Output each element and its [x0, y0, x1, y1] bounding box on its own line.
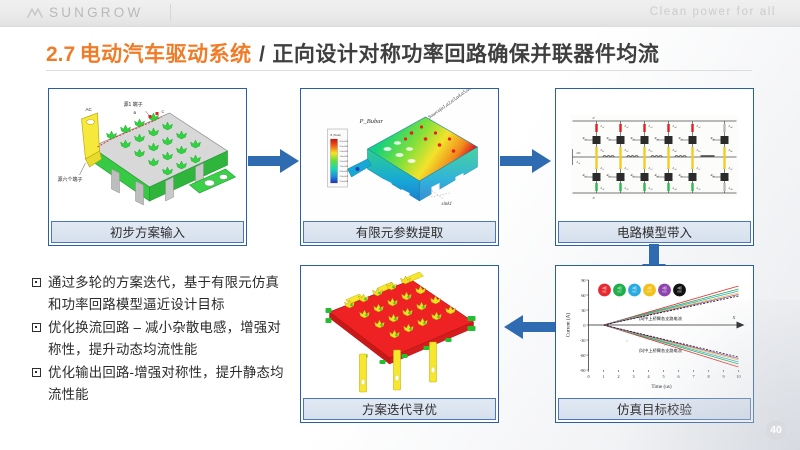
sungrow-logo-icon	[27, 6, 43, 21]
svg-text:1.2e-002: 1.2e-002	[340, 161, 349, 163]
svg-text:A相: A相	[617, 286, 622, 290]
svg-text:源六个端子: 源六个端子	[58, 176, 83, 183]
svg-text:i: i	[695, 301, 696, 305]
svg-text:sink1: sink1	[442, 202, 453, 207]
svg-text:IG3: IG3	[632, 289, 637, 293]
svg-text:X: X	[732, 315, 736, 320]
title-number: 2.7	[46, 43, 75, 66]
svg-text:-60: -60	[580, 353, 586, 358]
svg-text:3.9e-003: 3.9e-003	[340, 171, 349, 173]
list-item: 优化换流回路 – 减小杂散电感，增强对称性，提升动态均流性能	[32, 317, 290, 360]
svg-text:5: 5	[662, 374, 664, 379]
svg-text:1.8e-002: 1.8e-002	[340, 156, 349, 158]
svg-text:(b)中上桥臂各支路电流: (b)中上桥臂各支路电流	[639, 347, 683, 354]
flow-panel-fem-extraction[interactable]: P_Bubar B (Tesla) 4.2e-0023.1e-002 2.4e-…	[300, 88, 499, 246]
svg-text:2.0e-004: 2.0e-004	[340, 181, 349, 183]
list-item: 通过多轮的方案迭代，基于有限元仿真和功率回路模型逼近设计目标	[32, 272, 290, 315]
panel-caption-circuit-model: 电路模型带入	[558, 221, 751, 243]
svg-text:2.4e-002: 2.4e-002	[340, 151, 349, 153]
header-divider	[170, 4, 171, 21]
bullet-square-icon	[32, 368, 41, 377]
flow-panel-iterative-optimization[interactable]: 方案迭代寻优	[300, 265, 499, 423]
fem-simulation-result-image: P_Bubar B (Tesla) 4.2e-0023.1e-002 2.4e-…	[301, 89, 498, 219]
brand-tagline: Clean power for all	[650, 6, 776, 18]
panel-caption-initial-input: 初步方案输入	[51, 221, 244, 243]
arrow-panel2-to-panel3	[500, 148, 552, 174]
title-main: 电动汽车驱动系统	[80, 43, 252, 66]
brand-logo: SUNGROW	[27, 5, 143, 21]
svg-text:源1 端子: 源1 端子	[124, 101, 143, 108]
svg-text:A相: A相	[677, 286, 682, 290]
svg-text:IG5: IG5	[662, 289, 667, 293]
svg-text:i: i	[627, 339, 628, 343]
svg-text:(a)中上桥臂各支路电流: (a)中上桥臂各支路电流	[639, 315, 683, 322]
panel-caption-iterative-optimization: 方案迭代寻优	[303, 398, 496, 420]
page-number: 40	[766, 420, 786, 440]
svg-text:8: 8	[707, 374, 709, 379]
flow-panel-initial-input[interactable]: 源1 端子 AC B C 源六个端子 初步方案输入	[48, 88, 247, 246]
svg-text:4.2e-002: 4.2e-002	[340, 141, 349, 143]
flow-panel-circuit-model[interactable]: La1 La2 La3 La4 La5 La6 Lb1 Lb2 Lb3 Lb4 …	[555, 88, 754, 246]
busbar-3d-model-green-image: 源1 端子 AC B C 源六个端子	[49, 89, 246, 219]
svg-text:60: 60	[581, 293, 585, 298]
bullet-text: 优化换流回路 – 减小杂散电感，增强对称性，提升动态均流性能	[48, 317, 290, 360]
svg-text:Current (A): Current (A)	[565, 313, 572, 338]
bullet-square-icon	[32, 278, 41, 287]
title-separator: /	[256, 43, 268, 66]
svg-text:IG6: IG6	[677, 289, 682, 293]
svg-text:-90: -90	[580, 368, 586, 373]
bullet-text: 通过多轮的方案迭代，基于有限元仿真和功率回路模型逼近设计目标	[48, 272, 290, 315]
panel-caption-fem-extraction: 有限元参数提取	[303, 221, 496, 243]
busbar-3d-model-red-image	[301, 266, 498, 396]
svg-text:7.6e-003: 7.6e-003	[340, 166, 349, 168]
svg-text:1: 1	[602, 374, 604, 379]
current-sharing-waveform-chart-image: 90 60 30 0 -30 -60 -90	[556, 266, 753, 396]
svg-text:3: 3	[632, 374, 634, 379]
bullet-text: 优化输出回路-增强对称性，提升静态均流性能	[48, 362, 290, 405]
parallel-igbt-circuit-schematic-image: La1 La2 La3 La4 La5 La6 Lb1 Lb2 Lb3 Lb4 …	[556, 89, 753, 219]
svg-text:C: C	[162, 109, 165, 114]
title-subtitle: 正向设计对称功率回路确保并联器件均流	[272, 43, 659, 66]
svg-text:30: 30	[581, 308, 585, 313]
bullet-list: 通过多轮的方案迭代，基于有限元仿真和功率回路模型逼近设计目标 优化换流回路 – …	[32, 272, 290, 407]
brand-name: SUNGROW	[49, 5, 143, 21]
svg-text:90: 90	[581, 278, 585, 283]
flow-panel-simulation-verification[interactable]: 90 60 30 0 -30 -60 -90	[555, 265, 754, 423]
svg-text:-30: -30	[580, 338, 586, 343]
svg-text:P: P	[592, 116, 595, 120]
svg-text:P_Bubar: P_Bubar	[359, 118, 384, 125]
svg-text:IG4: IG4	[647, 289, 652, 293]
svg-text:B: B	[134, 110, 137, 115]
svg-text:3.1e-002: 3.1e-002	[340, 146, 349, 148]
title-underline	[46, 70, 752, 71]
svg-text:A相: A相	[602, 286, 607, 290]
svg-text:A相: A相	[632, 286, 637, 290]
svg-text:10: 10	[736, 374, 740, 379]
svg-text:B (Tesla): B (Tesla)	[331, 133, 341, 137]
svg-text:Time (us): Time (us)	[651, 383, 671, 390]
slide-header: SUNGROW Clean power for all	[0, 0, 800, 27]
svg-text:A相: A相	[662, 286, 667, 290]
svg-text:AC: AC	[86, 107, 93, 112]
svg-text:0: 0	[587, 374, 589, 379]
page-title: 2.7 电动汽车驱动系统 / 正向设计对称功率回路确保并联器件均流	[46, 38, 766, 68]
svg-text:i: i	[665, 343, 666, 347]
svg-text:IG1: IG1	[602, 289, 607, 293]
slide-root: SUNGROW Clean power for all 2.7 电动汽车驱动系统…	[0, 0, 800, 450]
arrow-panel1-to-panel2	[248, 148, 300, 174]
bullet-square-icon	[32, 323, 41, 332]
svg-text:DC: DC	[576, 151, 582, 155]
svg-text:A相: A相	[647, 286, 652, 290]
arrow-panel5-to-panel4	[503, 314, 555, 340]
svg-text:7: 7	[692, 374, 694, 379]
panel-caption-simulation-verification: 仿真目标校验	[558, 398, 751, 420]
svg-text:9: 9	[722, 374, 724, 379]
svg-text:2: 2	[617, 374, 619, 379]
svg-text:1.2e-003: 1.2e-003	[340, 176, 349, 178]
svg-text:IG2: IG2	[617, 289, 622, 293]
list-item: 优化输出回路-增强对称性，提升静态均流性能	[32, 362, 290, 405]
svg-text:0: 0	[583, 323, 585, 328]
svg-text:6: 6	[677, 374, 679, 379]
